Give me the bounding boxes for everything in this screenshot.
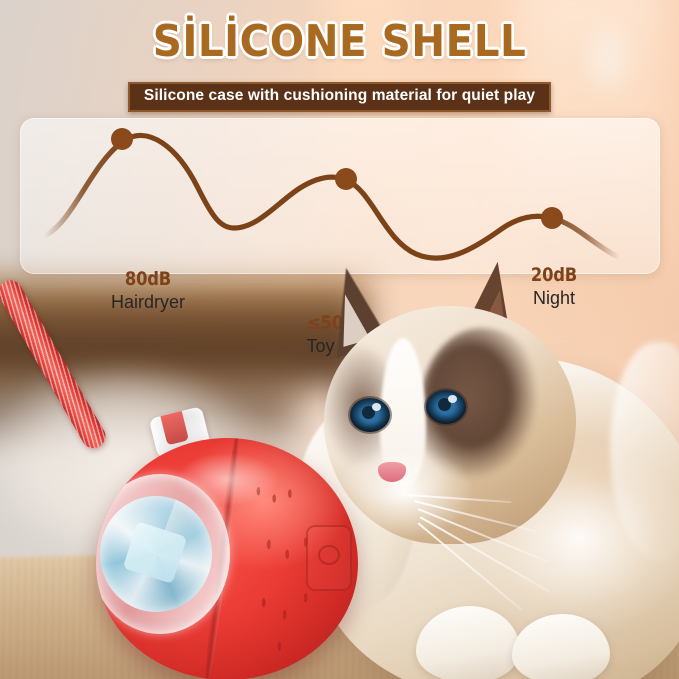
noise-value-hairdryer: 80dB: [105, 270, 191, 290]
wave-marker-hairdryer: [111, 128, 133, 150]
subtitle-banner-wrap: Silicone case with cushioning material f…: [0, 82, 679, 112]
page-title: SİLİCONE SHELL: [27, 20, 652, 65]
noise-label-hairdryer: 80dB Hairdryer: [98, 270, 198, 313]
wave-marker-toyball: [335, 168, 357, 190]
product-feature-image: SİLİCONE SHELL Silicone case with cushio…: [0, 0, 679, 679]
wave-marker-night: [541, 207, 563, 229]
cat-toy-ball: [96, 438, 358, 679]
cat-eye-left: [350, 398, 390, 432]
led-lens-icon: [100, 496, 212, 612]
noise-name-hairdryer: Hairdryer: [98, 291, 198, 314]
subtitle-banner: Silicone case with cushioning material f…: [128, 82, 551, 112]
ball-emblem: [306, 525, 352, 591]
cat-eye-right: [426, 390, 466, 424]
wave-path: [44, 136, 620, 259]
ball-clear-window: [96, 474, 230, 634]
